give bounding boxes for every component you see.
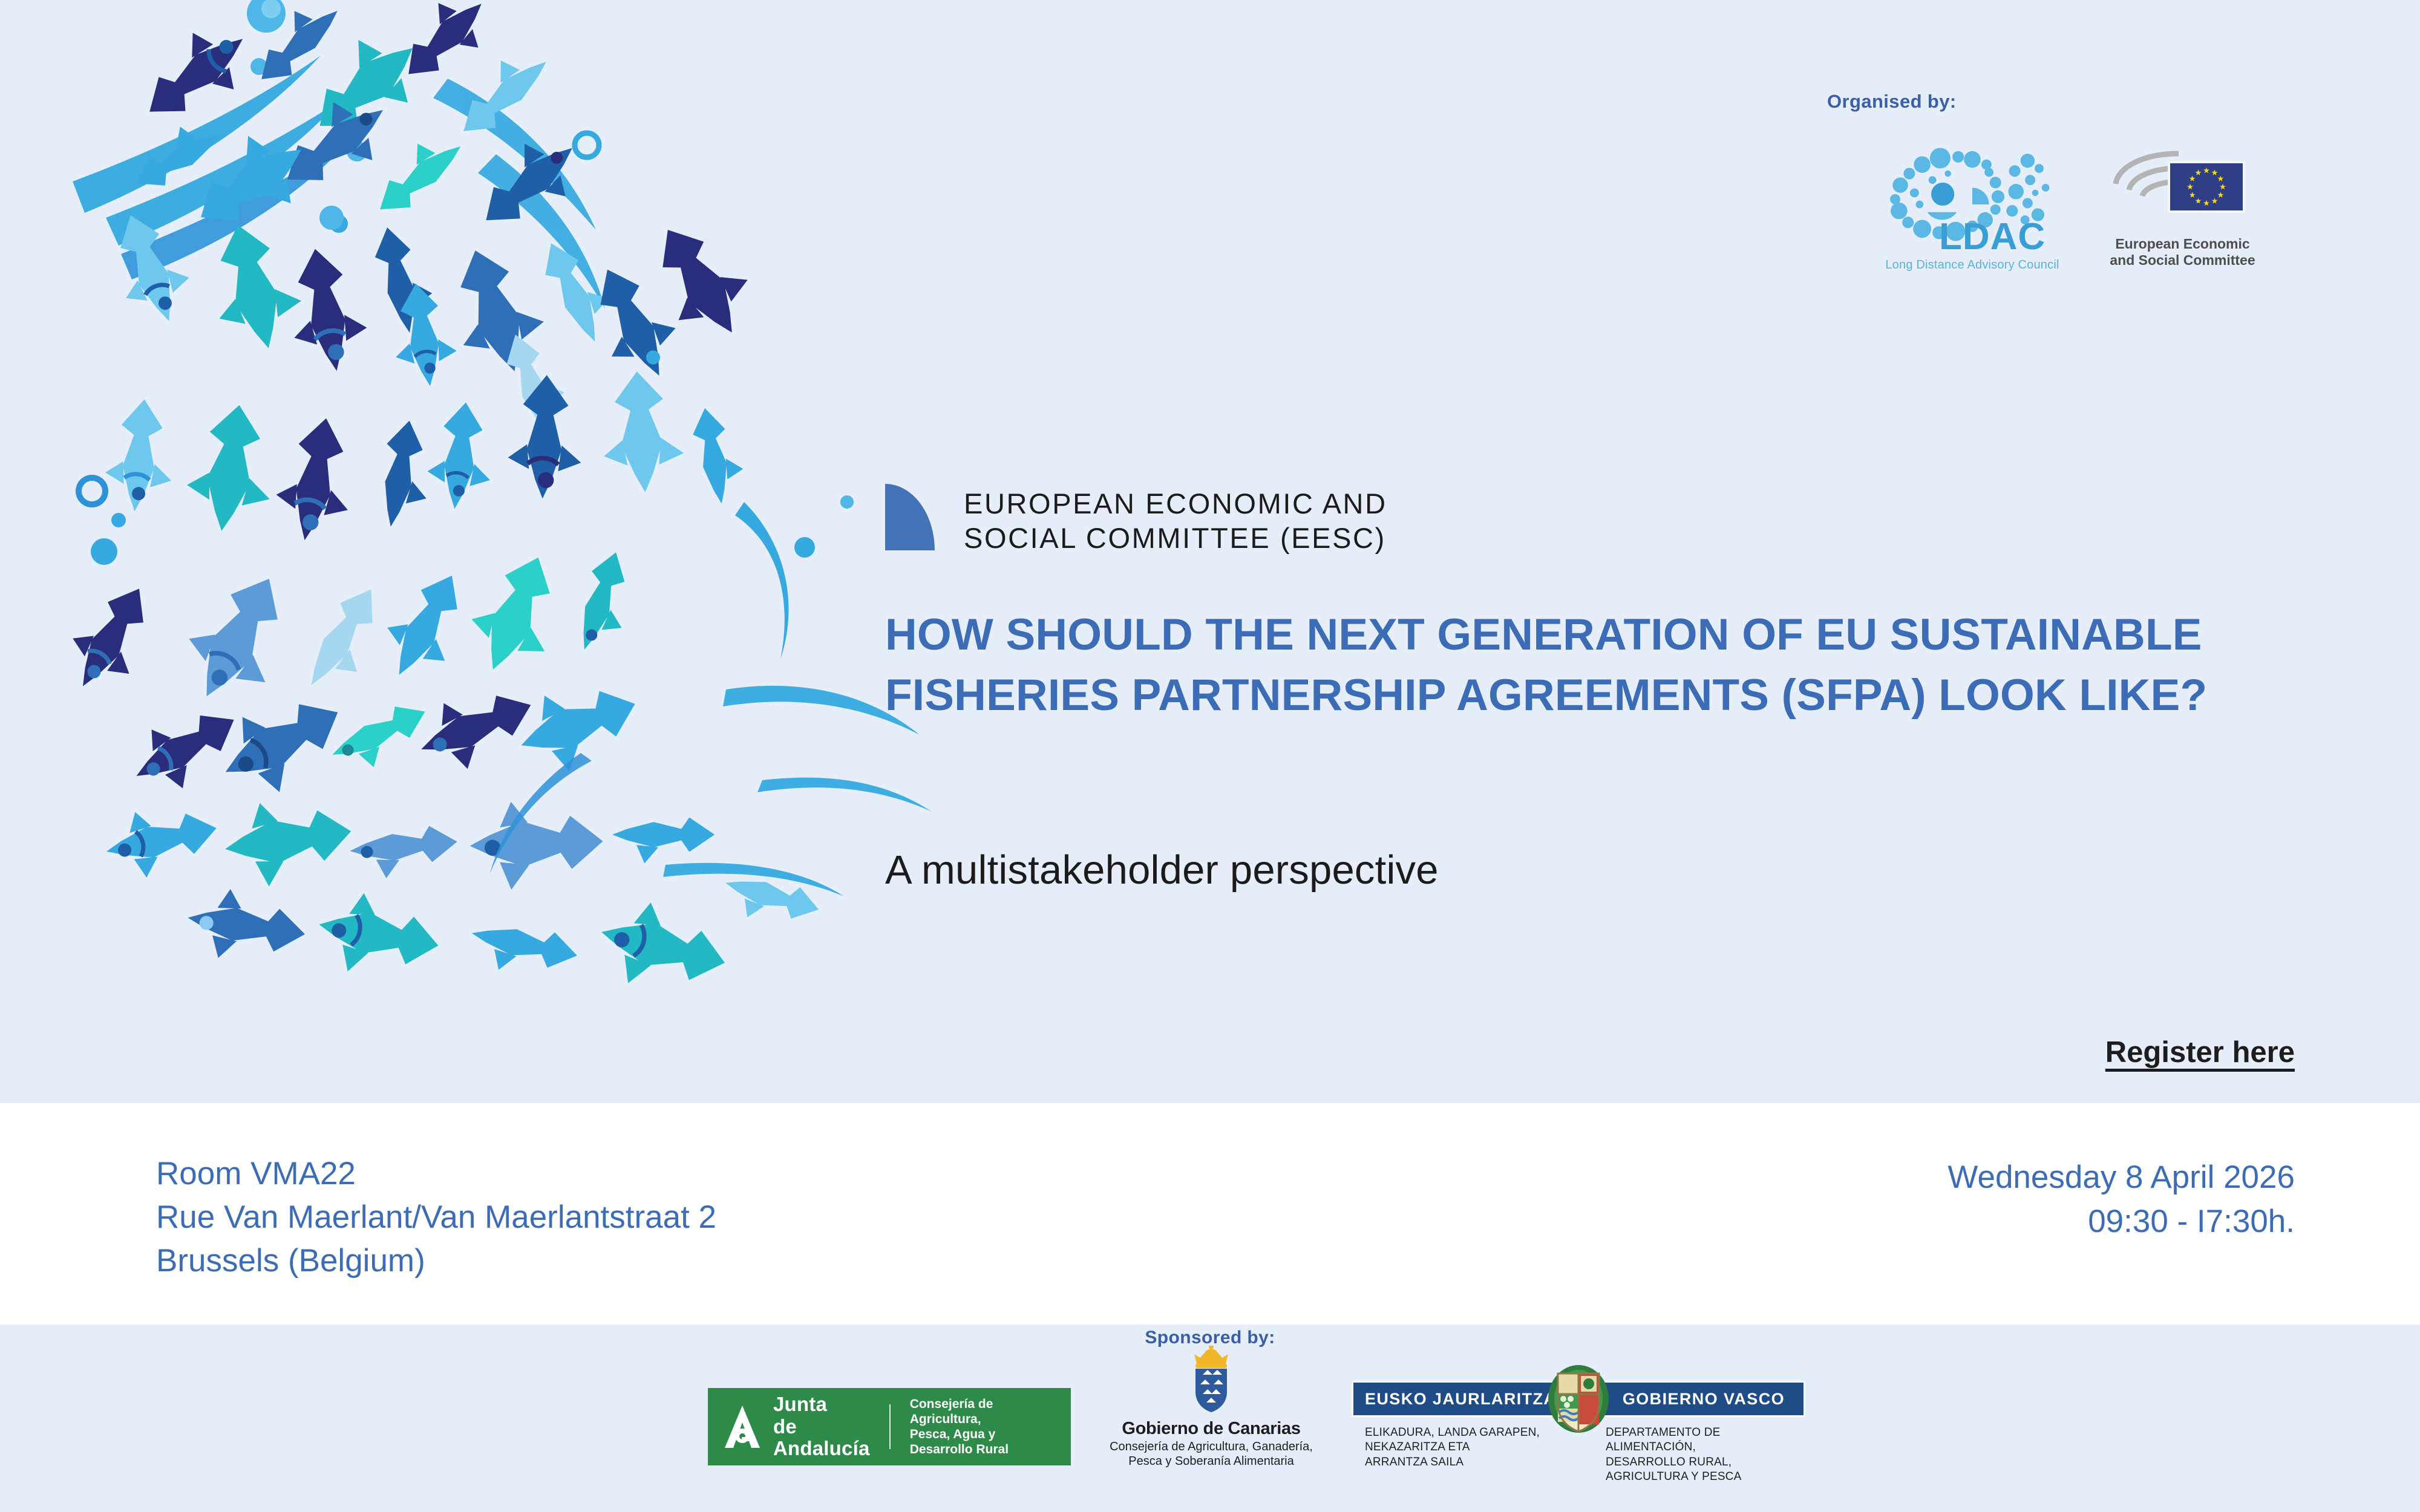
basque-crest-icon (1545, 1364, 1612, 1436)
eesc-organiser-logo: European Economic and Social Committee (2105, 143, 2260, 269)
register-link[interactable]: Register here (2105, 1035, 2295, 1069)
organised-by-block: Organised by: (1827, 91, 2311, 272)
junta-name: Junta de Andalucía (773, 1393, 870, 1461)
eesc-org-line2: and Social Committee (2105, 252, 2260, 269)
ldac-logo: LDAC Long Distance Advisory Council (1875, 143, 2069, 272)
event-date: Wednesday 8 April 2026 (1947, 1159, 2295, 1195)
organised-by-label: Organised by: (1827, 91, 2311, 112)
event-time: 09:30 - I7:30h. (2088, 1204, 2295, 1239)
sponsor-logos: Junta de Andalucía Consejería de Agricul… (708, 1388, 1805, 1484)
canarias-name: Gobierno de Canarias (1102, 1419, 1320, 1439)
canarias-department: Consejería de Agricultura, Ganadería, Pe… (1102, 1440, 1320, 1468)
eu-flag-icon (2107, 146, 2258, 228)
basque-esp-name: GOBIERNO VASCO (1623, 1390, 1785, 1409)
eesc-org-line1: European Economic (2105, 236, 2260, 252)
junta-a-mark-icon (724, 1404, 761, 1449)
organiser-logos: LDAC Long Distance Advisory Council (1827, 143, 2311, 272)
basque-bar: EUSKO JAURLARITZA GOBIERNO VASCO (1352, 1381, 1805, 1417)
ldac-full-name: Long Distance Advisory Council (1875, 258, 2069, 272)
eesc-header: EUROPEAN ECONOMIC AND SOCIAL COMMITTEE (… (885, 484, 1387, 556)
page-title: HOW SHOULD THE NEXT GENERATION OF EU SUS… (885, 605, 2349, 726)
junta-department: Consejería de Agricultura, Pesca, Agua y… (910, 1396, 1055, 1458)
eesc-header-line2: SOCIAL COMMITTEE (EESC) (964, 521, 1387, 555)
event-datetime: Wednesday 8 April 2026 09:30 - I7:30h. (1947, 1155, 2295, 1243)
junta-de-andalucia-logo: Junta de Andalucía Consejería de Agricul… (708, 1388, 1071, 1465)
venue-address: Room VMA22 Rue Van Maerlant/Van Maerlant… (156, 1152, 716, 1283)
gobierno-vasco-logo: EUSKO JAURLARITZA GOBIERNO VASCO (1352, 1381, 1805, 1484)
sponsored-by-label: Sponsored by: (0, 1328, 2420, 1348)
basque-esp-department: DEPARTAMENTO DE ALIMENTACIÓN, DESARROLLO… (1606, 1426, 1805, 1484)
eesc-header-line1: EUROPEAN ECONOMIC AND (964, 486, 1387, 521)
eesc-quarter-circle-logo-icon (885, 484, 935, 550)
canarias-crown-shield-icon (1183, 1346, 1239, 1413)
junta-divider (889, 1404, 891, 1449)
event-poster: Organised by: (0, 0, 2420, 1512)
gobierno-de-canarias-logo: Gobierno de Canarias Consejería de Agric… (1102, 1346, 1320, 1468)
page-subtitle: A multistakeholder perspective (885, 847, 1439, 893)
eesc-header-text: EUROPEAN ECONOMIC AND SOCIAL COMMITTEE (… (964, 484, 1387, 556)
basque-eus-name: EUSKO JAURLARITZA (1365, 1390, 1556, 1409)
basque-eus-department: ELIKADURA, LANDA GARAPEN, NEKAZARITZA ET… (1365, 1426, 1546, 1484)
eesc-organiser-name: European Economic and Social Committee (2105, 236, 2260, 269)
